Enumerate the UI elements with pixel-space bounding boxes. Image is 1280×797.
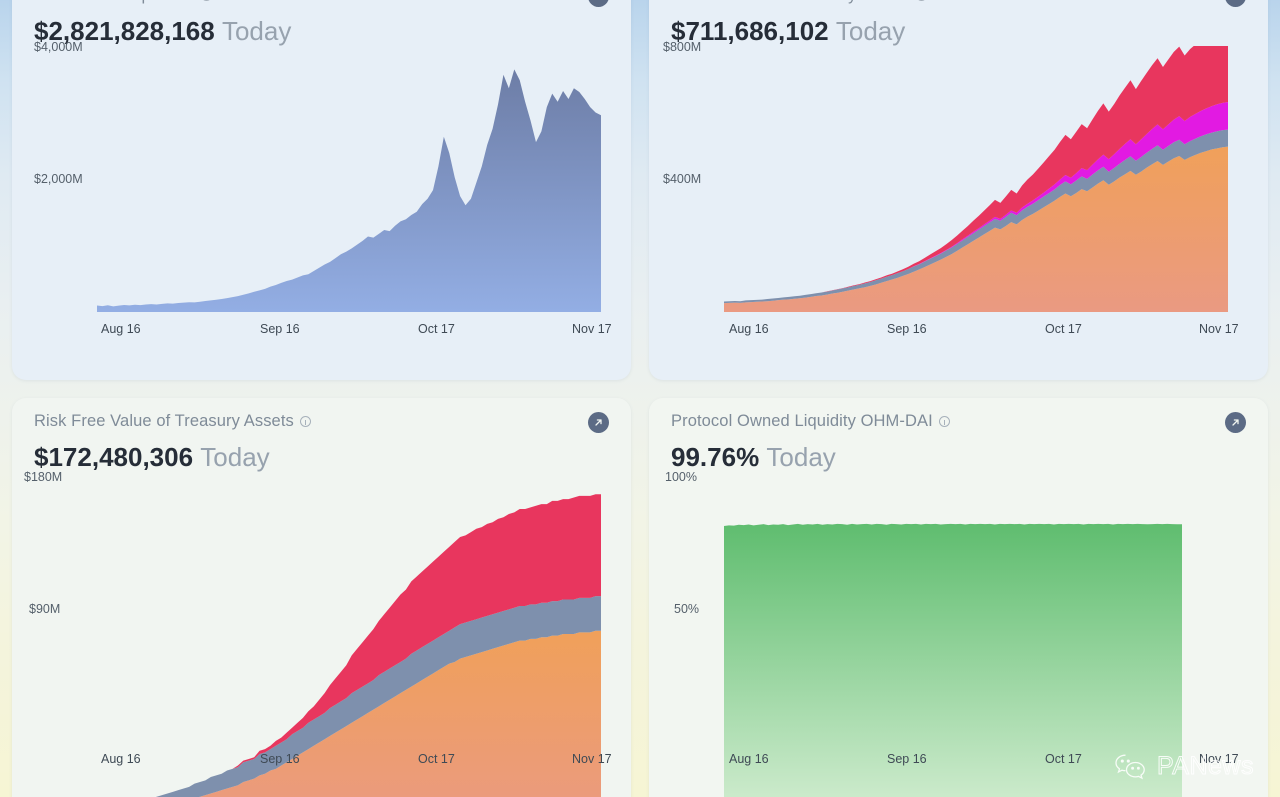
card-title-label: Protocol Owned Liquidity OHM-DAI: [671, 412, 933, 431]
info-icon[interactable]: [916, 0, 927, 1]
x-tick-label: Sep 16: [887, 752, 927, 766]
card-value-number: $172,480,306: [34, 442, 193, 472]
y-tick-label: $180M: [24, 470, 62, 484]
card-risk-free-value-treasury-assets[interactable]: Risk Free Value of Treasury Assets $172,…: [12, 398, 631, 797]
x-tick-label: Oct 17: [418, 752, 455, 766]
chart-total-value-deposited[interactable]: $4,000M $2,000M Aug 16 Sep 16 Oct 17 Nov…: [12, 46, 631, 380]
card-header: Market Value of Treasury Assets: [671, 0, 1246, 14]
card-value: $711,686,102 Today: [671, 16, 1246, 47]
card-title: Total Value Deposited: [34, 0, 212, 5]
card-header: Protocol Owned Liquidity OHM-DAI: [671, 412, 1246, 440]
x-tick-label: Nov 17: [572, 752, 612, 766]
expand-arrow-icon[interactable]: [1225, 412, 1246, 433]
chart-svg: [12, 476, 631, 797]
card-total-value-deposited[interactable]: Total Value Deposited $2,821,828,168 Tod…: [12, 0, 631, 380]
expand-arrow-icon[interactable]: [1225, 0, 1246, 7]
chart-risk-free-value-treasury-assets[interactable]: $180M $90M Aug 16 Sep 16 Oct 17 Nov 17: [12, 476, 631, 797]
card-header: Total Value Deposited: [34, 0, 609, 14]
card-value: 99.76% Today: [671, 442, 1246, 473]
chart-protocol-owned-liquidity[interactable]: 100% 50% Aug 16 Sep 16 Oct 17 Nov 17: [649, 476, 1268, 797]
y-tick-label: $800M: [663, 40, 701, 54]
x-tick-label: Sep 16: [260, 752, 300, 766]
card-protocol-owned-liquidity[interactable]: Protocol Owned Liquidity OHM-DAI 99.76% …: [649, 398, 1268, 797]
expand-arrow-icon[interactable]: [588, 412, 609, 433]
x-tick-label: Nov 17: [1199, 322, 1239, 336]
card-title: Risk Free Value of Treasury Assets: [34, 412, 311, 431]
y-tick-label: $4,000M: [34, 40, 83, 54]
card-title: Market Value of Treasury Assets: [671, 0, 927, 5]
card-value-suffix: Today: [836, 16, 905, 46]
dashboard-grid: Total Value Deposited $2,821,828,168 Tod…: [12, 0, 1268, 797]
info-icon[interactable]: [201, 0, 212, 1]
card-value-suffix: Today: [222, 16, 291, 46]
x-tick-label: Aug 16: [101, 322, 141, 336]
x-tick-label: Oct 17: [418, 322, 455, 336]
card-header: Risk Free Value of Treasury Assets: [34, 412, 609, 440]
y-tick-label: $2,000M: [34, 172, 83, 186]
chart-market-value-treasury-assets[interactable]: $800M $400M Aug 16 Sep 16 Oct 17 Nov 17: [649, 46, 1268, 380]
x-tick-label: Aug 16: [729, 752, 769, 766]
card-title: Protocol Owned Liquidity OHM-DAI: [671, 412, 950, 431]
card-value-suffix: Today: [766, 442, 835, 472]
x-tick-label: Sep 16: [887, 322, 927, 336]
info-icon[interactable]: [939, 416, 950, 427]
y-tick-label: $400M: [663, 172, 701, 186]
card-title-label: Market Value of Treasury Assets: [671, 0, 910, 5]
card-value: $172,480,306 Today: [34, 442, 609, 473]
x-tick-label: Oct 17: [1045, 752, 1082, 766]
info-icon[interactable]: [300, 416, 311, 427]
x-tick-label: Aug 16: [101, 752, 141, 766]
card-title-label: Risk Free Value of Treasury Assets: [34, 412, 294, 431]
y-tick-label: 50%: [674, 602, 699, 616]
card-title-label: Total Value Deposited: [34, 0, 195, 5]
x-tick-label: Aug 16: [729, 322, 769, 336]
x-tick-label: Nov 17: [1199, 752, 1239, 766]
card-value: $2,821,828,168 Today: [34, 16, 609, 47]
x-tick-label: Sep 16: [260, 322, 300, 336]
card-value-number: 99.76%: [671, 442, 759, 472]
y-tick-label: 100%: [665, 470, 697, 484]
x-tick-label: Oct 17: [1045, 322, 1082, 336]
chart-svg: [649, 476, 1268, 797]
y-tick-label: $90M: [29, 602, 60, 616]
expand-arrow-icon[interactable]: [588, 0, 609, 7]
card-value-suffix: Today: [200, 442, 269, 472]
card-market-value-treasury-assets[interactable]: Market Value of Treasury Assets $711,686…: [649, 0, 1268, 380]
x-tick-label: Nov 17: [572, 322, 612, 336]
